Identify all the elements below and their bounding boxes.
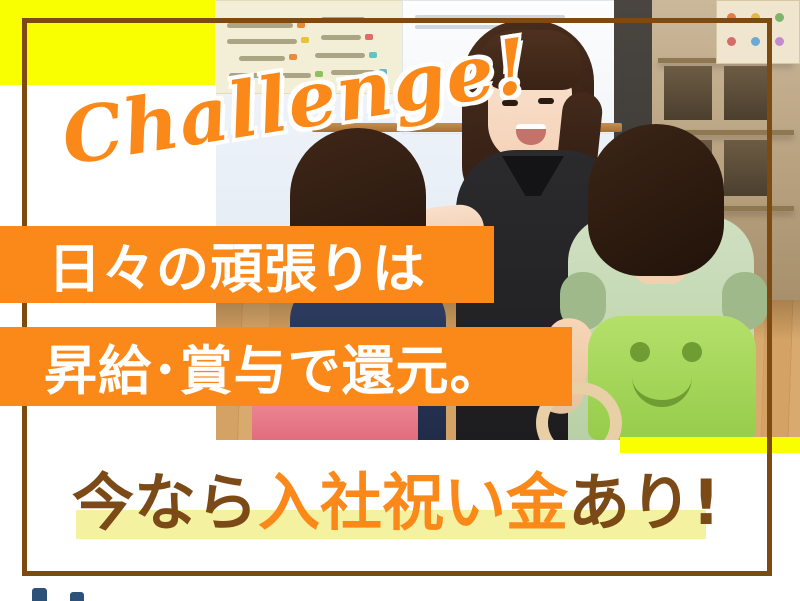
bottom-headline-segment-3: あり! — [568, 466, 720, 539]
wall-poster — [716, 0, 800, 64]
recruitment-banner: Challenge! 日々の頑張りは 昇給･賞与で還元。 今なら入社祝い金あり! — [0, 0, 800, 601]
chair-eye-right — [682, 342, 702, 362]
teacher-eye-right — [538, 98, 554, 104]
chair-eye-left — [630, 342, 650, 362]
bottom-headline-segment-1: 今なら — [72, 466, 258, 539]
logo-peak-right — [70, 592, 84, 601]
headline-bar-line-2-text: 昇給･賞与で還元。 — [44, 329, 504, 405]
headline-bar-line-1-text: 日々の頑張りは — [48, 227, 426, 303]
child-right-head — [588, 124, 724, 276]
bottom-headline-segment-2: 入社祝い金 — [258, 466, 568, 539]
bottom-headline: 今なら入社祝い金あり! — [72, 462, 720, 544]
logo-peak-left — [32, 588, 47, 601]
yellow-accent-block-bottom-right — [620, 437, 800, 453]
yellow-accent-block-top-left — [0, 0, 215, 85]
headline-bar-line-2: 昇給･賞与で還元。 — [0, 327, 572, 406]
partial-logo-mark — [30, 588, 116, 601]
headline-bar-line-1: 日々の頑張りは — [0, 226, 494, 303]
